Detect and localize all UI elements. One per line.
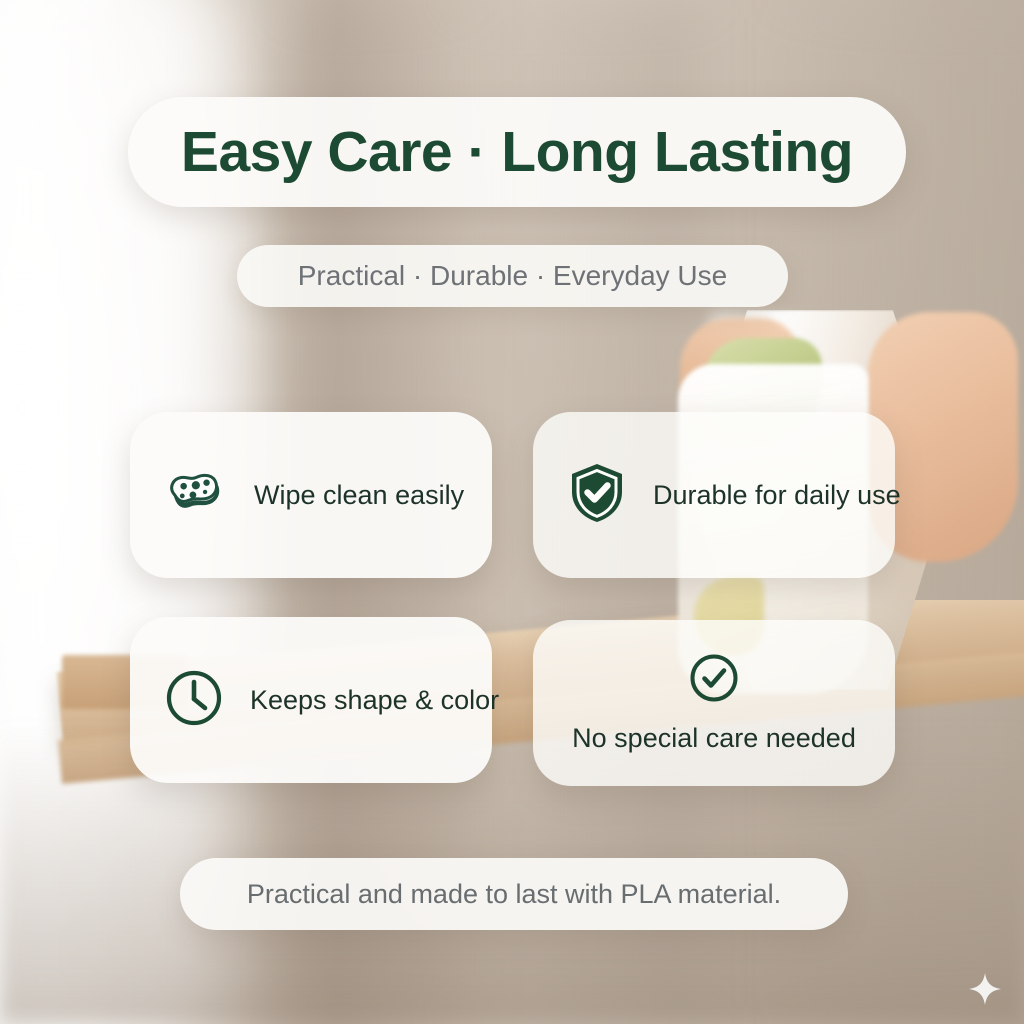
- feature-label: Durable for daily use: [653, 480, 901, 511]
- page-title: Easy Care · Long Lasting: [128, 97, 906, 207]
- page-title-text: Easy Care · Long Lasting: [181, 119, 853, 185]
- feature-card-keeps-shape[interactable]: Keeps shape & color: [130, 617, 492, 783]
- footer-note: Practical and made to last with PLA mate…: [180, 858, 848, 930]
- feature-label: No special care needed: [572, 723, 856, 754]
- feature-card-durable[interactable]: Durable for daily use: [533, 412, 895, 578]
- feature-card-wipe-clean[interactable]: Wipe clean easily: [130, 412, 492, 578]
- shield-check-icon: [567, 461, 627, 530]
- content-layer: Easy Care · Long Lasting Practical · Dur…: [0, 0, 1024, 1024]
- feature-card-no-special-care[interactable]: No special care needed: [533, 620, 895, 786]
- page-subtitle: Practical · Durable · Everyday Use: [237, 245, 788, 307]
- footer-note-text: Practical and made to last with PLA mate…: [247, 879, 781, 910]
- page-subtitle-text: Practical · Durable · Everyday Use: [298, 260, 727, 292]
- feature-label: Wipe clean easily: [254, 480, 464, 511]
- check-circle-icon: [688, 652, 740, 709]
- sparkle-icon: [968, 972, 1002, 1006]
- clock-icon: [164, 668, 224, 733]
- sponge-icon: [164, 461, 228, 530]
- feature-label: Keeps shape & color: [250, 685, 499, 716]
